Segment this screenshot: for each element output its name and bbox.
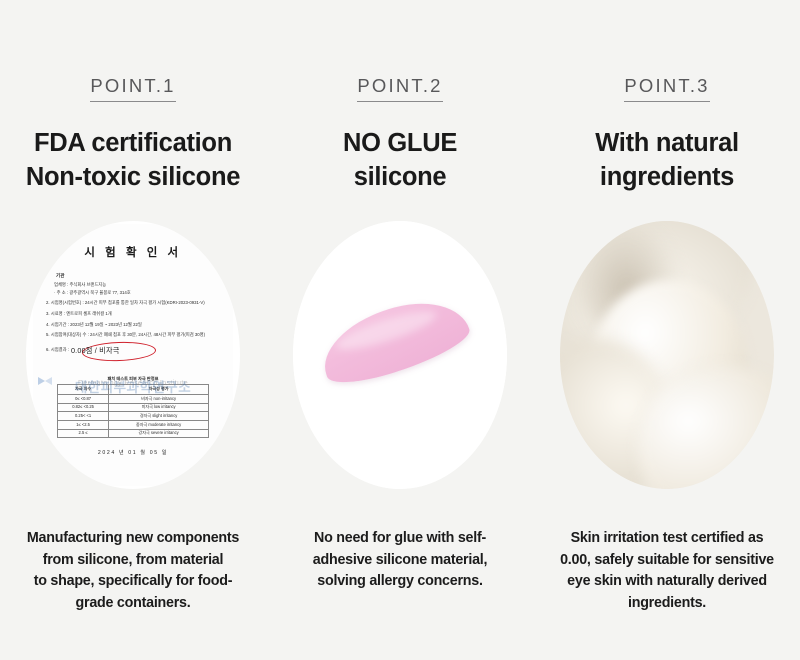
table-header-evaluation: 자극성 평가 [109,385,209,395]
table-row: 0.25< <1 경자극 slight irritancy [58,412,209,421]
pink-silicone-pad [313,287,475,392]
certificate-item-test-name: 2. 시험명(시험번호) : 24시간 피부 첩포를 통한 일차 자극 평가 시… [46,300,223,307]
table-cell-evaluation: 중자극 moderate irritancy [109,421,209,430]
certificate-item-test-period: 4. 시험기간 : 2023년 12월 19일 ~ 2023년 12월 22일 [46,322,223,329]
irritation-table: 자극 지수 자극성 평가 0≤ <0.87 비자극 non-irritancy … [57,384,209,438]
certificate-item-sample-name: 3. 시료명 : 엔트로피 셀프 래쉬컬 1개 [46,311,223,318]
certificate-document: 시 험 확 인 서 기관 업체명 : 주식회사 브랜드지능 · 주 소 : 광주… [33,224,233,486]
cream-texture [560,221,774,489]
table-cell-index: 0.82≤ <0.25 [58,403,109,412]
irritation-table-caption: 패치 테스트 피부 자극 판정표 [108,376,159,382]
certificate-item-participants: 5. 시험참여(대상자) 수 : 24시간 폐쇄 첩포 후 30분, 24시간,… [46,332,223,339]
certificate-result-prefix: 6. 시험결과 : [46,347,69,354]
pad-photo-background [293,221,507,489]
certificate-result-value: 0.00점 / 비자극 [71,346,120,356]
caption-1: Manufacturing new components from silico… [0,528,266,615]
caption-3: Skin irritation test certified as 0.00, … [534,528,800,615]
table-cell-index: 2.5 ≤ [58,429,109,438]
certificate-image: 시 험 확 인 서 기관 업체명 : 주식회사 브랜드지능 · 주 소 : 광주… [26,221,240,489]
feature-column-2: POINT.2 NO GLUE silicone No need for glu… [267,0,533,660]
table-row: 0.82≤ <0.25 미자극 low irritancy [58,403,209,412]
table-row: 2.5 ≤ 강자극 severe irritancy [58,429,209,438]
headline-2: NO GLUE silicone [343,127,457,194]
certificate-result-row: 6. 시험결과 : 0.00점 / 비자극 [46,344,223,358]
table-cell-evaluation: 강자극 severe irritancy [109,429,209,438]
feature-column-1: POINT.1 FDA certification Non-toxic sili… [0,0,266,660]
certificate-title: 시 험 확 인 서 [84,244,181,260]
table-header-row: 자극 지수 자극성 평가 [58,385,209,395]
feature-column-3: POINT.3 With natural ingredients Skin ir… [534,0,800,660]
table-cell-index: 0≤ <0.87 [58,394,109,403]
table-row: 1≤ <2.5 중자극 moderate irritancy [58,421,209,430]
table-cell-index: 1≤ <2.5 [58,421,109,430]
headline-3: With natural ingredients [595,127,739,194]
table-cell-evaluation: 경자극 slight irritancy [109,412,209,421]
cream-texture-image [560,221,774,489]
feature-infographic: POINT.1 FDA certification Non-toxic sili… [0,0,800,660]
caption-2: No need for glue with self- adhesive sil… [267,528,533,593]
headline-1: FDA certification Non-toxic silicone [26,127,240,194]
point-label-1: POINT.1 [90,76,175,102]
point-label-2: POINT.2 [357,76,442,102]
table-cell-evaluation: 미자극 low irritancy [109,403,209,412]
certificate-body: 기관 업체명 : 주식회사 브랜드지능 · 주 소 : 광주광역시 북구 율봉로… [43,273,223,358]
table-cell-index: 0.25< <1 [58,412,109,421]
table-row: 0≤ <0.87 비자극 non-irritancy [58,394,209,403]
institute-logo-icon [37,374,54,389]
table-cell-evaluation: 비자극 non-irritancy [109,394,209,403]
silicone-pad-image [293,221,507,489]
certificate-line-company: 업체명 : 주식회사 브랜드지능 [46,282,223,289]
certificate-line-address: · 주 소 : 광주광역시 북구 율봉로 77, 314호 [46,290,223,297]
certificate-date: 2024 년 01 월 05 일 [98,449,168,456]
table-header-index: 자극 지수 [58,385,109,395]
point-label-3: POINT.3 [624,76,709,102]
certificate-kicker: 기관 [56,273,223,279]
